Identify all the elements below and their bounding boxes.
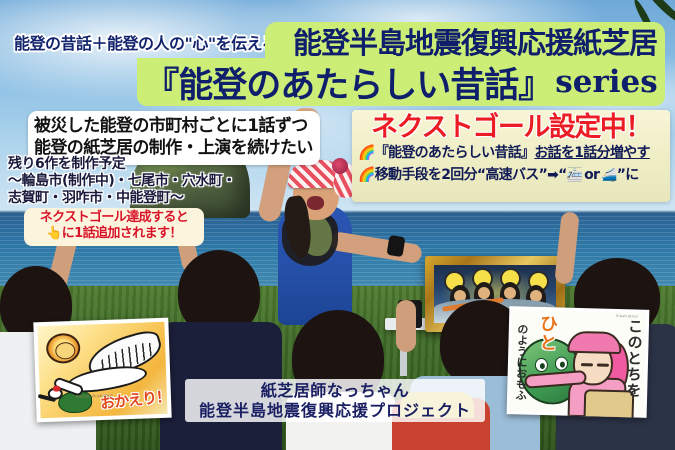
production-list-item: 残り6作を制作予定 (8, 156, 236, 173)
tagline: 能登の昔話＋能登の人の"心"を伝える (14, 30, 277, 54)
production-list-item: ～輪島市(制作中)・七尾市・穴水町・ (8, 173, 236, 190)
next-goal-item-1-detail: お話を1話分増やす (534, 145, 649, 161)
goal-note-box: ネクストゴール達成すると 👆に1話追加されます！ (24, 208, 204, 246)
performer-mouth (307, 196, 324, 210)
goal-note-line-2: 👆に1話追加されます！ (30, 226, 198, 242)
sun-emblem-icon (46, 333, 81, 364)
train-icon: 🚈 (567, 168, 583, 183)
hug-card-vtext-1: この (625, 318, 644, 350)
poster-canvas: 能登の昔話＋能登の人の"心"を伝える 能登半島地震復興応援紙芝居 『能登のあたら… (0, 0, 675, 450)
crane-card-artwork: おかえり！ Rachel, illustration (37, 322, 167, 418)
title-bar-main: 『能登のあたらしい昔話』 series (137, 58, 665, 106)
girl-eye (581, 363, 593, 366)
project-caption: 紙芝居師なっちゃん 能登半島地震復興応援プロジェクト (185, 379, 485, 422)
next-goal-panel: ネクストゴール設定中！ rainbow-icon🌈『能登のあたらしい昔話』お話を… (352, 110, 670, 202)
production-list-item: 志賀町・羽咋市・中能登町～ (8, 190, 236, 207)
hug-card-vtext-2: とちを (624, 350, 643, 398)
creature-eye (555, 356, 568, 370)
title-bar-top: 能登半島地震復興応援紙芝居 (265, 22, 665, 60)
left-headline-line-1: 被災した能登の市町村ごとに1話ずつ (34, 115, 314, 137)
shinkansen-icon: 🚄 (601, 168, 617, 183)
hug-card-artwork: illustration このとちを ひと のようにおもふ (510, 309, 647, 414)
hug-card-vertical-text-big: ひと (537, 314, 556, 352)
hug-card-vertical-text-small: のようにおもふ (515, 323, 528, 400)
next-goal-item-1-title: 『能登のあたらしい昔話』 (375, 145, 535, 161)
next-goal-item-2-b: ”に (617, 167, 639, 183)
caption-line-1: 紙芝居師なっちゃん (189, 381, 481, 401)
crane-illustration-card: おかえり！ Rachel, illustration (33, 318, 171, 423)
child-arm (396, 300, 416, 352)
production-list: 残り6作を制作予定 ～輪島市(制作中)・七尾市・穴水町・ 志賀町・羽咋市・中能登… (8, 156, 236, 207)
title-line-2: 『能登のあたらしい昔話』 (144, 57, 552, 108)
rainbow-icon: 🌈 (358, 167, 375, 183)
next-goal-title: ネクストゴール設定中！ (358, 114, 664, 142)
next-goal-item-2: 🌈移動手段を2回分“高速バス”➡“🚈or🚄”に (358, 165, 664, 186)
goal-note-line-1: ネクストゴール達成すると (30, 210, 198, 226)
girl-bandana (567, 331, 622, 354)
caption-line-2: 能登半島地震復興応援プロジェクト (189, 401, 481, 421)
next-goal-item-1: rainbow-icon🌈『能登のあたらしい昔話』お話を1話分増やす (358, 143, 664, 164)
next-goal-item-2-a: 移動手段を2回分“高速バス”➡“ (375, 167, 567, 183)
creature-eye (535, 358, 548, 372)
next-goal-item-2-or: or (582, 167, 601, 183)
performer-watch (387, 235, 406, 257)
hug-illustration-card: illustration このとちを ひと のようにおもふ (507, 306, 650, 418)
performer-flower (332, 158, 348, 174)
hug-card-vertical-text-right: このとちを (625, 318, 642, 398)
girl-eye (597, 363, 609, 366)
title-series-suffix: series (552, 64, 657, 100)
